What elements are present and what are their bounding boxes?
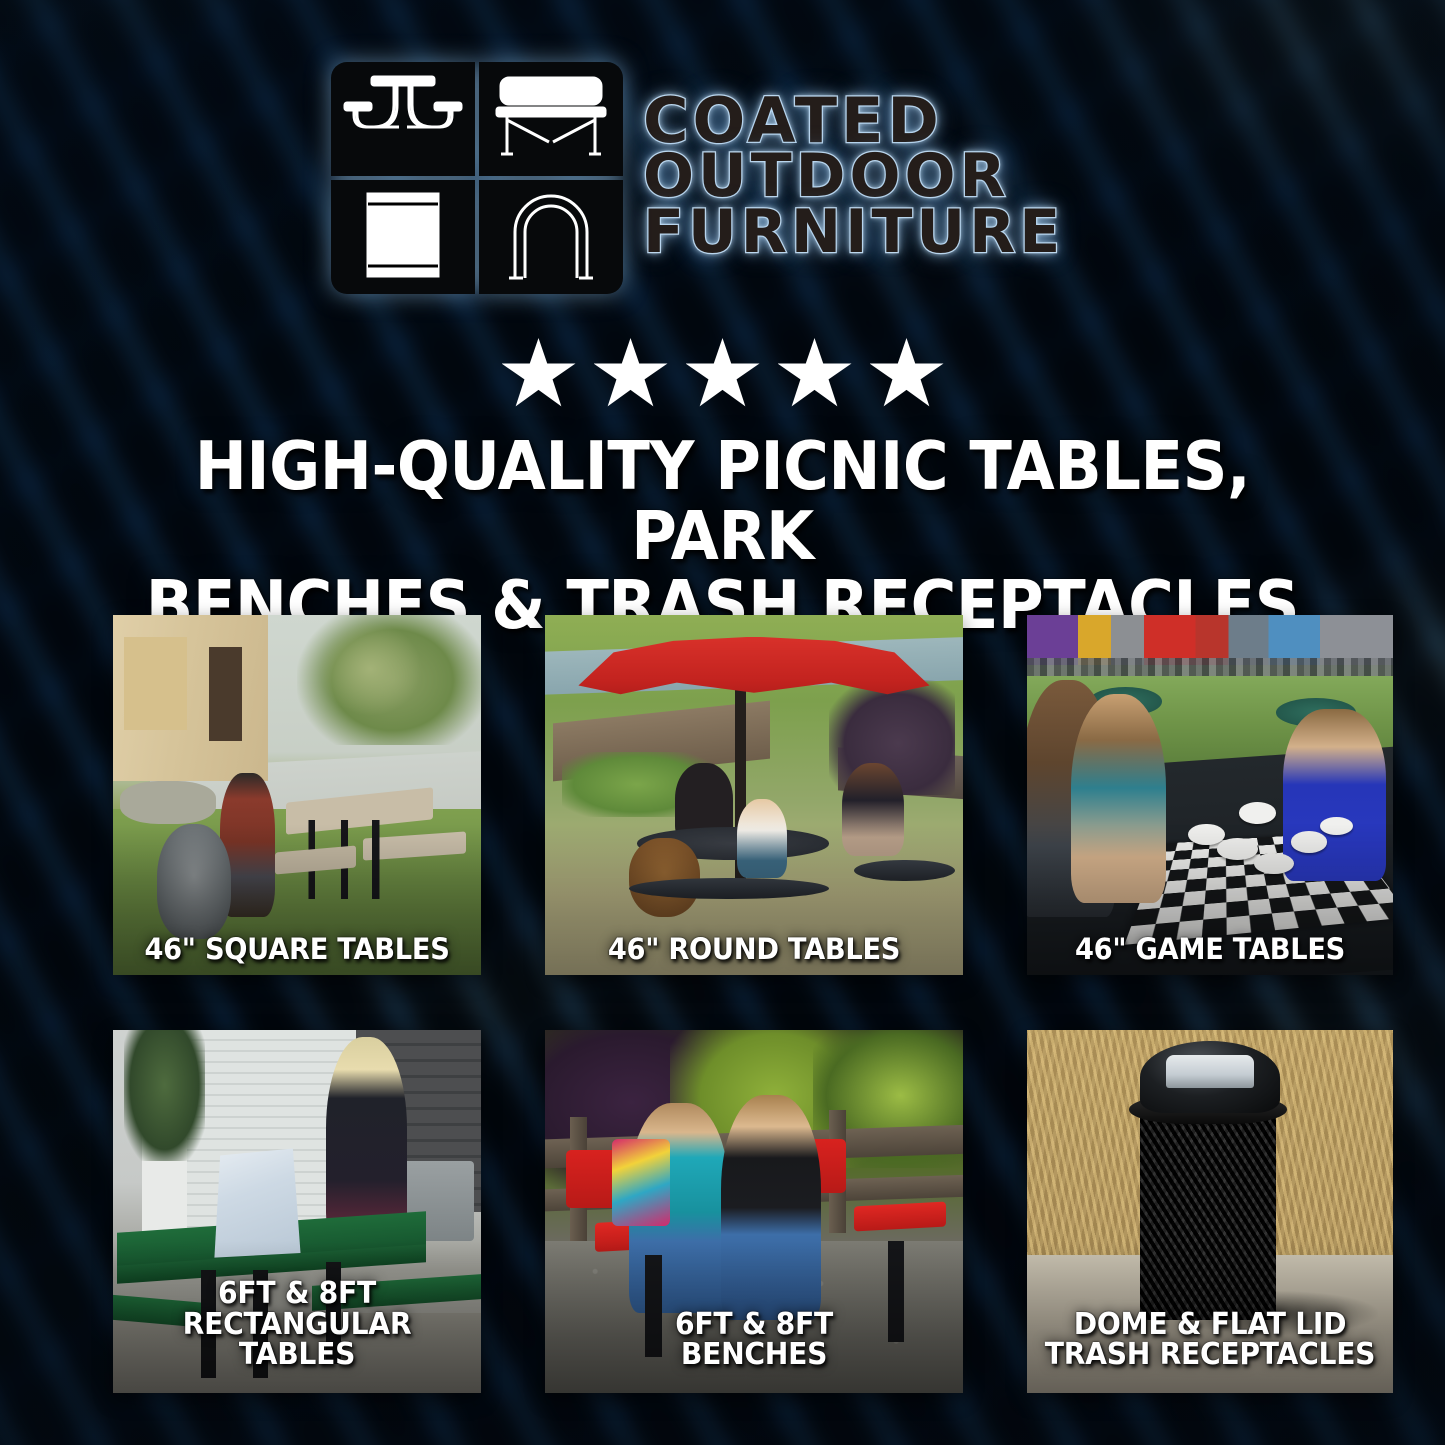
star-icon <box>778 338 852 410</box>
logo-cell-bike-rack <box>479 180 623 294</box>
product-caption-round-tables: 46" ROUND TABLES <box>558 935 951 965</box>
star-icon <box>870 338 944 410</box>
product-grid: 46" SQUARE TABLES <box>113 615 1333 1393</box>
caption-line-2: TRASH RECEPTACLES <box>1044 1340 1377 1371</box>
product-tile-benches[interactable]: 6FT & 8FT BENCHES <box>545 1030 963 1393</box>
star-rating <box>0 338 1445 410</box>
product-caption-game-tables: 46" GAME TABLES <box>1038 935 1382 965</box>
caption-line-1: 46" SQUARE TABLES <box>130 935 465 965</box>
product-photo-square-tables <box>113 615 481 975</box>
logo-line-furniture: FURNITURE <box>643 205 1064 260</box>
product-tile-rectangular-tables[interactable]: 6FT & 8FT RECTANGULAR TABLES <box>113 1030 481 1393</box>
brand-logo[interactable]: COATED OUTDOOR FURNITURE <box>331 62 1064 294</box>
caption-line-1: DOME & FLAT LID <box>1044 1310 1377 1341</box>
caption-line-1: 46" ROUND TABLES <box>563 935 945 965</box>
product-tile-square-tables[interactable]: 46" SQUARE TABLES <box>113 615 481 975</box>
product-caption-benches: 6FT & 8FT BENCHES <box>558 1310 951 1371</box>
product-tile-game-tables[interactable]: 46" GAME TABLES <box>1027 615 1393 975</box>
brand-wordmark: COATED OUTDOOR FURNITURE <box>643 92 1064 263</box>
star-icon <box>594 338 668 410</box>
product-caption-trash-receptacles: DOME & FLAT LID TRASH RECEPTACLES <box>1038 1310 1382 1371</box>
product-tile-trash-receptacles[interactable]: DOME & FLAT LID TRASH RECEPTACLES <box>1027 1030 1393 1393</box>
logo-icon-grid <box>331 62 623 294</box>
product-caption-square-tables: 46" SQUARE TABLES <box>124 935 470 965</box>
picnic-table-icon <box>342 69 464 170</box>
trash-receptacle-icon <box>360 186 446 289</box>
star-icon <box>686 338 760 410</box>
product-caption-rectangular-tables: 6FT & 8FT RECTANGULAR TABLES <box>124 1279 470 1371</box>
headline-line-1: HIGH-QUALITY PICNIC TABLES, PARK <box>106 432 1338 571</box>
logo-cell-park-bench <box>479 62 623 176</box>
logo-cell-trash-receptacle <box>331 180 475 294</box>
logo-cell-picnic-table <box>331 62 475 176</box>
caption-line-2: BENCHES <box>563 1340 945 1371</box>
caption-line-2: RECTANGULAR TABLES <box>130 1310 465 1371</box>
caption-line-1: 6FT & 8FT <box>563 1310 945 1341</box>
star-icon <box>502 338 576 410</box>
product-photo-round-tables <box>545 615 963 975</box>
caption-line-1: 6FT & 8FT <box>130 1279 465 1310</box>
ad-stage: COATED OUTDOOR FURNITURE HIGH-QUALITY PI… <box>0 0 1445 1445</box>
park-bench-icon <box>491 70 611 169</box>
page-title: HIGH-QUALITY PICNIC TABLES, PARK BENCHES… <box>51 432 1395 641</box>
product-tile-round-tables[interactable]: 46" ROUND TABLES <box>545 615 963 975</box>
product-photo-game-tables <box>1027 615 1393 975</box>
caption-line-1: 46" GAME TABLES <box>1044 935 1377 965</box>
bike-rack-icon <box>499 186 603 289</box>
